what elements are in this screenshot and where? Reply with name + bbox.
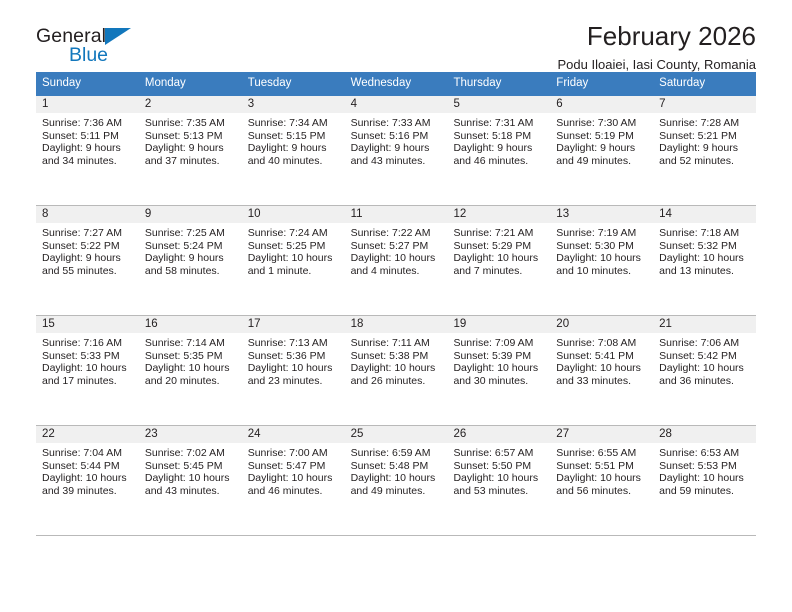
sunrise-text: Sunrise: 7:25 AM xyxy=(145,227,238,240)
sunrise-text: Sunrise: 6:53 AM xyxy=(659,447,752,460)
sunrise-text: Sunrise: 7:33 AM xyxy=(351,117,444,130)
sunset-text: Sunset: 5:27 PM xyxy=(351,240,444,253)
week-row: 22 Sunrise: 7:04 AM Sunset: 5:44 PM Dayl… xyxy=(36,426,756,536)
day-number: 8 xyxy=(36,206,139,223)
day-cell[interactable]: 1 Sunrise: 7:36 AM Sunset: 5:11 PM Dayli… xyxy=(36,96,139,205)
week-row: 1 Sunrise: 7:36 AM Sunset: 5:11 PM Dayli… xyxy=(36,96,756,206)
day-cell[interactable]: 11 Sunrise: 7:22 AM Sunset: 5:27 PM Dayl… xyxy=(345,206,448,315)
sunrise-text: Sunrise: 6:57 AM xyxy=(453,447,546,460)
day-details: Sunrise: 7:21 AM Sunset: 5:29 PM Dayligh… xyxy=(447,223,550,277)
weekday-wednesday: Wednesday xyxy=(345,72,448,96)
day-number: 7 xyxy=(653,96,756,113)
day-number: 1 xyxy=(36,96,139,113)
day-cell[interactable]: 17 Sunrise: 7:13 AM Sunset: 5:36 PM Dayl… xyxy=(242,316,345,425)
day-cell[interactable]: 27 Sunrise: 6:55 AM Sunset: 5:51 PM Dayl… xyxy=(550,426,653,535)
day-details: Sunrise: 7:30 AM Sunset: 5:19 PM Dayligh… xyxy=(550,113,653,167)
sunrise-text: Sunrise: 7:35 AM xyxy=(145,117,238,130)
day-cell[interactable]: 19 Sunrise: 7:09 AM Sunset: 5:39 PM Dayl… xyxy=(447,316,550,425)
day-number: 10 xyxy=(242,206,345,223)
title-block: February 2026 Podu Iloaiei, Iasi County,… xyxy=(558,20,756,75)
day-details: Sunrise: 7:31 AM Sunset: 5:18 PM Dayligh… xyxy=(447,113,550,167)
day-details: Sunrise: 6:55 AM Sunset: 5:51 PM Dayligh… xyxy=(550,443,653,497)
day-details: Sunrise: 7:13 AM Sunset: 5:36 PM Dayligh… xyxy=(242,333,345,387)
weekday-header-row: Sunday Monday Tuesday Wednesday Thursday… xyxy=(36,72,756,96)
sunset-text: Sunset: 5:41 PM xyxy=(556,350,649,363)
sunrise-text: Sunrise: 7:36 AM xyxy=(42,117,135,130)
sunrise-text: Sunrise: 7:11 AM xyxy=(351,337,444,350)
daylight-text: Daylight: 10 hours and 33 minutes. xyxy=(556,362,649,387)
daylight-text: Daylight: 9 hours and 52 minutes. xyxy=(659,142,752,167)
day-details: Sunrise: 7:09 AM Sunset: 5:39 PM Dayligh… xyxy=(447,333,550,387)
daylight-text: Daylight: 9 hours and 49 minutes. xyxy=(556,142,649,167)
day-number: 19 xyxy=(447,316,550,333)
daylight-text: Daylight: 10 hours and 4 minutes. xyxy=(351,252,444,277)
page-subtitle: Podu Iloaiei, Iasi County, Romania xyxy=(558,55,756,75)
day-number: 13 xyxy=(550,206,653,223)
sunset-text: Sunset: 5:45 PM xyxy=(145,460,238,473)
sunset-text: Sunset: 5:33 PM xyxy=(42,350,135,363)
weekday-monday: Monday xyxy=(139,72,242,96)
sunset-text: Sunset: 5:29 PM xyxy=(453,240,546,253)
general-blue-logo[interactable]: General Blue xyxy=(36,26,236,74)
daylight-text: Daylight: 9 hours and 58 minutes. xyxy=(145,252,238,277)
daylight-text: Daylight: 10 hours and 30 minutes. xyxy=(453,362,546,387)
sunset-text: Sunset: 5:30 PM xyxy=(556,240,649,253)
sunrise-text: Sunrise: 6:55 AM xyxy=(556,447,649,460)
day-cell[interactable]: 16 Sunrise: 7:14 AM Sunset: 5:35 PM Dayl… xyxy=(139,316,242,425)
sunset-text: Sunset: 5:38 PM xyxy=(351,350,444,363)
day-number: 23 xyxy=(139,426,242,443)
day-number: 24 xyxy=(242,426,345,443)
day-details: Sunrise: 7:11 AM Sunset: 5:38 PM Dayligh… xyxy=(345,333,448,387)
day-cell[interactable]: 28 Sunrise: 6:53 AM Sunset: 5:53 PM Dayl… xyxy=(653,426,756,535)
sunrise-text: Sunrise: 7:21 AM xyxy=(453,227,546,240)
day-number: 25 xyxy=(345,426,448,443)
day-details: Sunrise: 7:27 AM Sunset: 5:22 PM Dayligh… xyxy=(36,223,139,277)
day-cell[interactable]: 9 Sunrise: 7:25 AM Sunset: 5:24 PM Dayli… xyxy=(139,206,242,315)
day-cell[interactable]: 10 Sunrise: 7:24 AM Sunset: 5:25 PM Dayl… xyxy=(242,206,345,315)
day-number: 6 xyxy=(550,96,653,113)
daylight-text: Daylight: 10 hours and 36 minutes. xyxy=(659,362,752,387)
day-cell[interactable]: 4 Sunrise: 7:33 AM Sunset: 5:16 PM Dayli… xyxy=(345,96,448,205)
day-number: 22 xyxy=(36,426,139,443)
day-cell[interactable]: 6 Sunrise: 7:30 AM Sunset: 5:19 PM Dayli… xyxy=(550,96,653,205)
day-details: Sunrise: 7:33 AM Sunset: 5:16 PM Dayligh… xyxy=(345,113,448,167)
sunset-text: Sunset: 5:24 PM xyxy=(145,240,238,253)
triangle-icon xyxy=(105,28,131,45)
day-number: 9 xyxy=(139,206,242,223)
sunset-text: Sunset: 5:50 PM xyxy=(453,460,546,473)
day-cell[interactable]: 5 Sunrise: 7:31 AM Sunset: 5:18 PM Dayli… xyxy=(447,96,550,205)
day-number: 20 xyxy=(550,316,653,333)
day-details: Sunrise: 7:35 AM Sunset: 5:13 PM Dayligh… xyxy=(139,113,242,167)
day-details: Sunrise: 7:04 AM Sunset: 5:44 PM Dayligh… xyxy=(36,443,139,497)
daylight-text: Daylight: 10 hours and 43 minutes. xyxy=(145,472,238,497)
sunrise-text: Sunrise: 7:14 AM xyxy=(145,337,238,350)
day-details: Sunrise: 7:00 AM Sunset: 5:47 PM Dayligh… xyxy=(242,443,345,497)
sunset-text: Sunset: 5:36 PM xyxy=(248,350,341,363)
sunrise-text: Sunrise: 7:04 AM xyxy=(42,447,135,460)
day-cell[interactable]: 18 Sunrise: 7:11 AM Sunset: 5:38 PM Dayl… xyxy=(345,316,448,425)
daylight-text: Daylight: 10 hours and 13 minutes. xyxy=(659,252,752,277)
daylight-text: Daylight: 10 hours and 46 minutes. xyxy=(248,472,341,497)
weekday-thursday: Thursday xyxy=(447,72,550,96)
sunset-text: Sunset: 5:53 PM xyxy=(659,460,752,473)
sunrise-text: Sunrise: 6:59 AM xyxy=(351,447,444,460)
day-details: Sunrise: 7:25 AM Sunset: 5:24 PM Dayligh… xyxy=(139,223,242,277)
day-cell[interactable]: 20 Sunrise: 7:08 AM Sunset: 5:41 PM Dayl… xyxy=(550,316,653,425)
sunrise-text: Sunrise: 7:09 AM xyxy=(453,337,546,350)
day-details: Sunrise: 7:14 AM Sunset: 5:35 PM Dayligh… xyxy=(139,333,242,387)
day-number: 3 xyxy=(242,96,345,113)
sunset-text: Sunset: 5:16 PM xyxy=(351,130,444,143)
day-cell[interactable]: 14 Sunrise: 7:18 AM Sunset: 5:32 PM Dayl… xyxy=(653,206,756,315)
day-number: 18 xyxy=(345,316,448,333)
page-title: February 2026 xyxy=(558,20,756,52)
day-details: Sunrise: 7:36 AM Sunset: 5:11 PM Dayligh… xyxy=(36,113,139,167)
daylight-text: Daylight: 10 hours and 20 minutes. xyxy=(145,362,238,387)
sunset-text: Sunset: 5:22 PM xyxy=(42,240,135,253)
sunset-text: Sunset: 5:18 PM xyxy=(453,130,546,143)
sunrise-text: Sunrise: 7:16 AM xyxy=(42,337,135,350)
daylight-text: Daylight: 10 hours and 26 minutes. xyxy=(351,362,444,387)
daylight-text: Daylight: 10 hours and 56 minutes. xyxy=(556,472,649,497)
sunset-text: Sunset: 5:19 PM xyxy=(556,130,649,143)
sunset-text: Sunset: 5:11 PM xyxy=(42,130,135,143)
sunrise-text: Sunrise: 7:22 AM xyxy=(351,227,444,240)
sunset-text: Sunset: 5:15 PM xyxy=(248,130,341,143)
day-number: 16 xyxy=(139,316,242,333)
day-details: Sunrise: 6:59 AM Sunset: 5:48 PM Dayligh… xyxy=(345,443,448,497)
daylight-text: Daylight: 10 hours and 49 minutes. xyxy=(351,472,444,497)
sunset-text: Sunset: 5:48 PM xyxy=(351,460,444,473)
daylight-text: Daylight: 10 hours and 59 minutes. xyxy=(659,472,752,497)
sunrise-text: Sunrise: 7:30 AM xyxy=(556,117,649,130)
day-cell[interactable]: 24 Sunrise: 7:00 AM Sunset: 5:47 PM Dayl… xyxy=(242,426,345,535)
daylight-text: Daylight: 9 hours and 37 minutes. xyxy=(145,142,238,167)
weekday-friday: Friday xyxy=(550,72,653,96)
daylight-text: Daylight: 10 hours and 7 minutes. xyxy=(453,252,546,277)
day-number: 4 xyxy=(345,96,448,113)
logo-text-blue: Blue xyxy=(69,45,108,65)
day-details: Sunrise: 7:02 AM Sunset: 5:45 PM Dayligh… xyxy=(139,443,242,497)
sunrise-text: Sunrise: 7:18 AM xyxy=(659,227,752,240)
day-number: 5 xyxy=(447,96,550,113)
day-details: Sunrise: 7:28 AM Sunset: 5:21 PM Dayligh… xyxy=(653,113,756,167)
day-number: 17 xyxy=(242,316,345,333)
sunset-text: Sunset: 5:32 PM xyxy=(659,240,752,253)
sunrise-text: Sunrise: 7:27 AM xyxy=(42,227,135,240)
day-number: 21 xyxy=(653,316,756,333)
day-number: 12 xyxy=(447,206,550,223)
daylight-text: Daylight: 10 hours and 1 minute. xyxy=(248,252,341,277)
calendar-page: General Blue February 2026 Podu Iloaiei,… xyxy=(0,0,792,612)
day-number: 28 xyxy=(653,426,756,443)
day-cell[interactable]: 8 Sunrise: 7:27 AM Sunset: 5:22 PM Dayli… xyxy=(36,206,139,315)
weekday-sunday: Sunday xyxy=(36,72,139,96)
day-cell[interactable]: 21 Sunrise: 7:06 AM Sunset: 5:42 PM Dayl… xyxy=(653,316,756,425)
sunrise-text: Sunrise: 7:34 AM xyxy=(248,117,341,130)
day-details: Sunrise: 7:18 AM Sunset: 5:32 PM Dayligh… xyxy=(653,223,756,277)
sunrise-text: Sunrise: 7:28 AM xyxy=(659,117,752,130)
sunset-text: Sunset: 5:39 PM xyxy=(453,350,546,363)
day-details: Sunrise: 6:57 AM Sunset: 5:50 PM Dayligh… xyxy=(447,443,550,497)
daylight-text: Daylight: 10 hours and 39 minutes. xyxy=(42,472,135,497)
sunrise-text: Sunrise: 7:24 AM xyxy=(248,227,341,240)
day-number: 11 xyxy=(345,206,448,223)
sunset-text: Sunset: 5:35 PM xyxy=(145,350,238,363)
calendar-grid: Sunday Monday Tuesday Wednesday Thursday… xyxy=(36,72,756,536)
sunrise-text: Sunrise: 7:00 AM xyxy=(248,447,341,460)
sunset-text: Sunset: 5:47 PM xyxy=(248,460,341,473)
day-cell[interactable]: 15 Sunrise: 7:16 AM Sunset: 5:33 PM Dayl… xyxy=(36,316,139,425)
sunrise-text: Sunrise: 7:08 AM xyxy=(556,337,649,350)
day-cell[interactable]: 2 Sunrise: 7:35 AM Sunset: 5:13 PM Dayli… xyxy=(139,96,242,205)
sunset-text: Sunset: 5:44 PM xyxy=(42,460,135,473)
day-number: 15 xyxy=(36,316,139,333)
sunrise-text: Sunrise: 7:31 AM xyxy=(453,117,546,130)
daylight-text: Daylight: 9 hours and 34 minutes. xyxy=(42,142,135,167)
day-number: 14 xyxy=(653,206,756,223)
logo-text-general: General xyxy=(36,26,106,46)
sunset-text: Sunset: 5:13 PM xyxy=(145,130,238,143)
day-number: 26 xyxy=(447,426,550,443)
sunset-text: Sunset: 5:21 PM xyxy=(659,130,752,143)
daylight-text: Daylight: 9 hours and 46 minutes. xyxy=(453,142,546,167)
sunrise-text: Sunrise: 7:06 AM xyxy=(659,337,752,350)
day-details: Sunrise: 6:53 AM Sunset: 5:53 PM Dayligh… xyxy=(653,443,756,497)
daylight-text: Daylight: 10 hours and 17 minutes. xyxy=(42,362,135,387)
day-details: Sunrise: 7:24 AM Sunset: 5:25 PM Dayligh… xyxy=(242,223,345,277)
weekday-saturday: Saturday xyxy=(653,72,756,96)
daylight-text: Daylight: 9 hours and 40 minutes. xyxy=(248,142,341,167)
day-details: Sunrise: 7:08 AM Sunset: 5:41 PM Dayligh… xyxy=(550,333,653,387)
day-details: Sunrise: 7:22 AM Sunset: 5:27 PM Dayligh… xyxy=(345,223,448,277)
day-details: Sunrise: 7:34 AM Sunset: 5:15 PM Dayligh… xyxy=(242,113,345,167)
day-number: 27 xyxy=(550,426,653,443)
day-cell[interactable]: 23 Sunrise: 7:02 AM Sunset: 5:45 PM Dayl… xyxy=(139,426,242,535)
sunset-text: Sunset: 5:42 PM xyxy=(659,350,752,363)
day-details: Sunrise: 7:19 AM Sunset: 5:30 PM Dayligh… xyxy=(550,223,653,277)
day-cell[interactable]: 7 Sunrise: 7:28 AM Sunset: 5:21 PM Dayli… xyxy=(653,96,756,205)
day-number: 2 xyxy=(139,96,242,113)
day-cell[interactable]: 22 Sunrise: 7:04 AM Sunset: 5:44 PM Dayl… xyxy=(36,426,139,535)
day-cell[interactable]: 12 Sunrise: 7:21 AM Sunset: 5:29 PM Dayl… xyxy=(447,206,550,315)
sunrise-text: Sunrise: 7:19 AM xyxy=(556,227,649,240)
sunset-text: Sunset: 5:25 PM xyxy=(248,240,341,253)
sunrise-text: Sunrise: 7:02 AM xyxy=(145,447,238,460)
sunrise-text: Sunrise: 7:13 AM xyxy=(248,337,341,350)
week-row: 8 Sunrise: 7:27 AM Sunset: 5:22 PM Dayli… xyxy=(36,206,756,316)
daylight-text: Daylight: 9 hours and 43 minutes. xyxy=(351,142,444,167)
day-cell[interactable]: 26 Sunrise: 6:57 AM Sunset: 5:50 PM Dayl… xyxy=(447,426,550,535)
day-cell[interactable]: 3 Sunrise: 7:34 AM Sunset: 5:15 PM Dayli… xyxy=(242,96,345,205)
weekday-tuesday: Tuesday xyxy=(242,72,345,96)
day-details: Sunrise: 7:16 AM Sunset: 5:33 PM Dayligh… xyxy=(36,333,139,387)
daylight-text: Daylight: 9 hours and 55 minutes. xyxy=(42,252,135,277)
daylight-text: Daylight: 10 hours and 53 minutes. xyxy=(453,472,546,497)
day-cell[interactable]: 25 Sunrise: 6:59 AM Sunset: 5:48 PM Dayl… xyxy=(345,426,448,535)
daylight-text: Daylight: 10 hours and 10 minutes. xyxy=(556,252,649,277)
day-details: Sunrise: 7:06 AM Sunset: 5:42 PM Dayligh… xyxy=(653,333,756,387)
page-header: General Blue February 2026 Podu Iloaiei,… xyxy=(36,0,756,72)
sunset-text: Sunset: 5:51 PM xyxy=(556,460,649,473)
daylight-text: Daylight: 10 hours and 23 minutes. xyxy=(248,362,341,387)
day-cell[interactable]: 13 Sunrise: 7:19 AM Sunset: 5:30 PM Dayl… xyxy=(550,206,653,315)
week-row: 15 Sunrise: 7:16 AM Sunset: 5:33 PM Dayl… xyxy=(36,316,756,426)
